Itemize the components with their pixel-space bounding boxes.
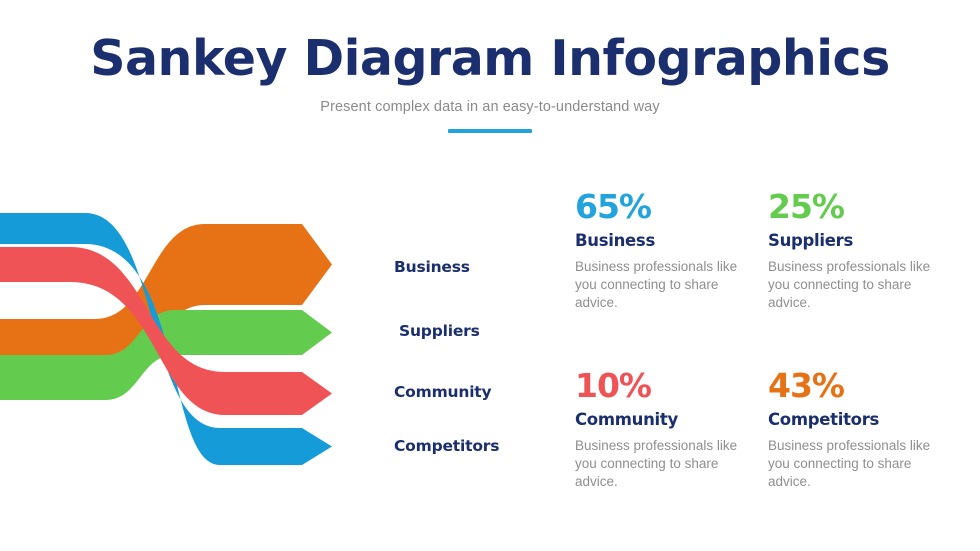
page-title: Sankey Diagram Infographics (0, 34, 980, 83)
stat-description-suppliers: Business professionals like you connecti… (768, 250, 943, 312)
stat-percent-suppliers: 25% (768, 190, 963, 223)
stat-name-community: Community (575, 402, 770, 429)
stat-card-suppliers: 25% Suppliers Business professionals lik… (768, 190, 963, 312)
stat-card-competitors: 43% Competitors Business professionals l… (768, 369, 963, 491)
stat-name-suppliers: Suppliers (768, 223, 963, 250)
sankey-node-label-competitors: Competitors (394, 437, 499, 455)
stat-description-competitors: Business professionals like you connecti… (768, 429, 943, 491)
title-underline-divider (448, 129, 532, 133)
stat-description-business: Business professionals like you connecti… (575, 250, 750, 312)
sankey-node-label-suppliers: Suppliers (399, 322, 480, 340)
stat-card-community: 10% Community Business professionals lik… (575, 369, 770, 491)
sankey-node-label-community: Community (394, 383, 491, 401)
stat-description-community: Business professionals like you connecti… (575, 429, 750, 491)
stat-name-competitors: Competitors (768, 402, 963, 429)
header: Sankey Diagram Infographics Present comp… (0, 34, 980, 133)
stat-percent-competitors: 43% (768, 369, 963, 402)
stat-card-business: 65% Business Business professionals like… (575, 190, 770, 312)
sankey-node-label-business: Business (394, 258, 470, 276)
stat-percent-business: 65% (575, 190, 770, 223)
stat-percent-community: 10% (575, 369, 770, 402)
stat-name-business: Business (575, 223, 770, 250)
sankey-diagram (0, 195, 380, 495)
page-subtitle: Present complex data in an easy-to-under… (0, 83, 980, 115)
